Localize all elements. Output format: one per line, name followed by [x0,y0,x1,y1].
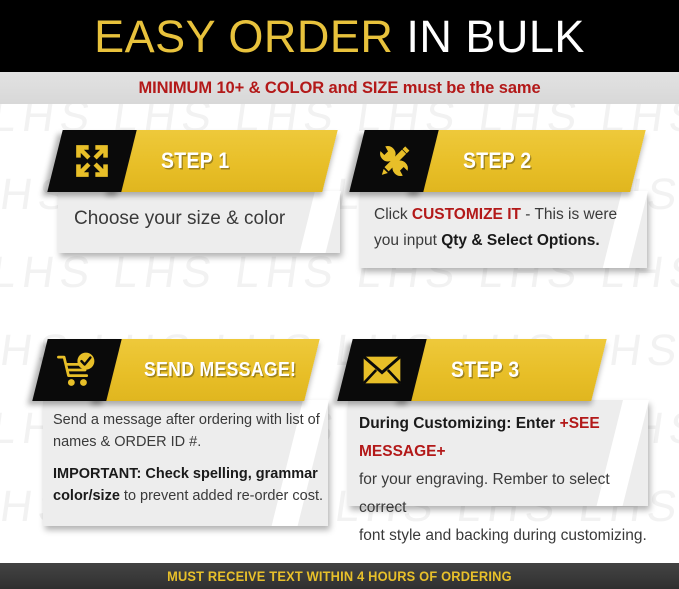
wrench-pencil-icon [374,141,414,181]
text-run: font style and backing during customizin… [359,527,647,544]
text-run: CUSTOMIZE IT [412,206,521,223]
step-body-panel-step2: Click CUSTOMIZE IT - This is wereyou inp… [360,191,647,268]
text-run: color/size [53,488,120,504]
step-icon-box-step3 [337,339,426,401]
body-text-line: font style and backing during customizin… [359,522,648,550]
step-icon-box-step1 [47,130,136,192]
body-text-line: Click CUSTOMIZE IT - This is were [374,202,647,228]
text-run: Click [374,206,412,223]
text-run: Send a message after ordering with list … [53,412,320,428]
expand-arrows-icon [72,141,112,181]
body-text-line: IMPORTANT: Check spelling, grammar [53,463,328,485]
text-run: - This is were [521,206,617,223]
text-run: to prevent added re-order cost. [120,488,323,504]
page-title-primary: EASY ORDER [94,11,393,62]
envelope-icon [362,354,402,386]
step-banner-label: SEND MESSAGE! [144,359,296,382]
step-banner-label: STEP 3 [451,357,519,383]
body-text-line: During Customizing: Enter +SEE MESSAGE+ [359,410,648,466]
text-spacer [53,453,328,463]
step-body-text-step2: Click CUSTOMIZE IT - This is wereyou inp… [360,191,647,254]
step-icon-box-step2 [349,130,438,192]
page-title-secondary-text: IN BULK [406,11,585,62]
subtitle-banner: MINIMUM 10+ & COLOR and SIZE must be the… [0,72,679,104]
text-run: Choose your size & color [74,208,285,229]
step-card-step3: STEP 3 During Customizing: Enter +SE [345,339,650,506]
cart-check-icon [56,350,98,390]
step-body-panel-send-message: Send a message after ordering with list … [43,400,328,526]
header-banner: EASY ORDER IN BULK [0,0,679,72]
step-body-panel-step3: During Customizing: Enter +SEE MESSAGE+f… [348,400,648,506]
step-banner-label: STEP 1 [161,148,229,174]
step-banner-step1: STEP 1 [105,130,337,192]
page-title: EASY ORDER IN BULK [94,14,585,59]
step-card-step1: STEP 1 [55,130,340,253]
text-run: Qty & Select Options. [441,232,599,249]
text-run: you input [374,232,441,249]
step-banner-step3: STEP 3 [395,339,606,401]
text-run: for your engraving. Rember to select cor… [359,471,610,516]
footer-text: MUST RECEIVE TEXT WITHIN 4 HOURS OF ORDE… [167,569,512,584]
step-header-step3: STEP 3 [345,339,650,401]
step-body-text-send-message: Send a message after ordering with list … [43,400,328,507]
body-text-line: you input Qty & Select Options. [374,228,647,254]
text-run: During Customizing: Enter [359,415,560,432]
step-header-step1: STEP 1 [55,130,340,192]
page-title-secondary [393,11,406,62]
step-banner-label: STEP 2 [463,148,531,174]
step-banner-step2: STEP 2 [407,130,645,192]
body-text-line: Send a message after ordering with list … [53,409,328,431]
text-run: IMPORTANT: Check spelling, grammar [53,466,318,482]
text-run: names & ORDER ID #. [53,434,201,450]
step-body-text-step1: Choose your size & color [58,191,340,230]
footer-banner: MUST RECEIVE TEXT WITHIN 4 HOURS OF ORDE… [0,563,679,589]
body-text-line: names & ORDER ID #. [53,431,328,453]
body-text-line: color/size to prevent added re-order cos… [53,485,328,507]
body-text-line: Choose your size & color [74,208,340,230]
step-icon-box-send-message [32,339,121,401]
step-banner-send-message: SEND MESSAGE! [90,339,319,401]
step-body-text-step3: During Customizing: Enter +SEE MESSAGE+f… [348,400,648,550]
step-body-panel-step1: Choose your size & color [58,191,340,253]
step-header-step2: STEP 2 [357,130,647,192]
step-card-step2: STEP 2 [357,130,647,268]
subtitle-text: MINIMUM 10+ & COLOR and SIZE must be the… [138,79,540,98]
step-card-send-message: SEND MESSAGE! [40,339,332,526]
body-text-line: for your engraving. Rember to select cor… [359,466,648,522]
step-header-send-message: SEND MESSAGE! [40,339,332,401]
